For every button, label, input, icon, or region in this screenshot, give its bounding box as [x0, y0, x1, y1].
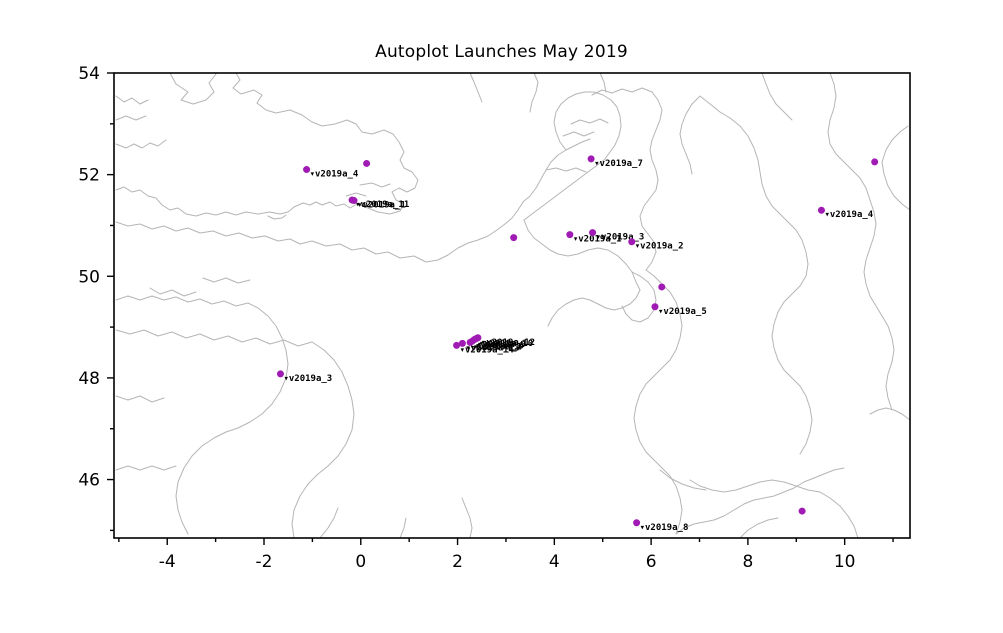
x-tick-label-2: 0 [355, 552, 366, 572]
data-point: ▾v2019a_3 [277, 370, 332, 384]
data-point [658, 283, 665, 290]
point-marker-10 [658, 283, 665, 290]
axis-ticks [107, 73, 893, 545]
y-tick-label-4: 46 [78, 471, 100, 491]
data-point: ▾v2019a_3 [589, 229, 644, 243]
point-marker-1 [363, 160, 370, 167]
point-marker-6 [510, 234, 517, 241]
y-tick-label-0: 54 [78, 64, 100, 84]
x-tick-label-3: 2 [452, 552, 463, 572]
y-tick-label-2: 50 [78, 267, 100, 287]
point-label-12: ▾v2019a_4 [824, 210, 873, 220]
data-point: ▾v2019a_7 [588, 155, 643, 169]
data-point [510, 234, 517, 241]
point-label-4: ▾v2019a_3 [283, 374, 332, 384]
point-marker-14 [799, 508, 806, 515]
x-tick-label-1: -2 [256, 552, 273, 572]
x-tick-label-5: 6 [646, 552, 657, 572]
data-points-layer: ▾v2019a_4▾v2019a_11▾v2019a_1▾v2019a_3▾v2… [277, 155, 878, 532]
y-tick-label-1: 52 [78, 166, 100, 186]
basemap-coastlines [116, 73, 910, 538]
point-label-11: ▾v2019a_5 [658, 307, 707, 317]
data-point: ▾v2019a_5 [651, 303, 706, 317]
data-point [363, 160, 370, 167]
axis-tick-labels: -4-202468105452504846 [78, 64, 855, 572]
point-label-9: ▾v2019a_2 [635, 242, 684, 252]
x-tick-label-6: 8 [742, 552, 753, 572]
data-point [799, 508, 806, 515]
point-label-22: ▾v2019a_14 [460, 345, 515, 355]
point-label-15: ▾v2019a_8 [640, 523, 689, 533]
y-tick-label-3: 48 [78, 369, 100, 389]
point-label-3: ▾v2019a_1 [357, 201, 406, 211]
data-point: ▾v2019a_4 [303, 166, 359, 180]
data-point: ▾v2019a_4 [818, 207, 874, 221]
x-tick-label-0: -4 [159, 552, 176, 572]
x-tick-label-4: 4 [549, 552, 560, 572]
point-marker-13 [871, 158, 878, 165]
plot-frame [114, 73, 910, 538]
scatter-map-plot: -4-202468105452504846 ▾v2019a_4▾v2019a_1… [0, 0, 1003, 633]
point-label-0: ▾v2019a_4 [310, 170, 359, 180]
x-tick-label-7: 10 [834, 552, 856, 572]
point-label-5: ▾v2019a_7 [594, 159, 643, 169]
data-point [871, 158, 878, 165]
chart-stage: Autoplot Launches May 2019 [0, 0, 1003, 633]
